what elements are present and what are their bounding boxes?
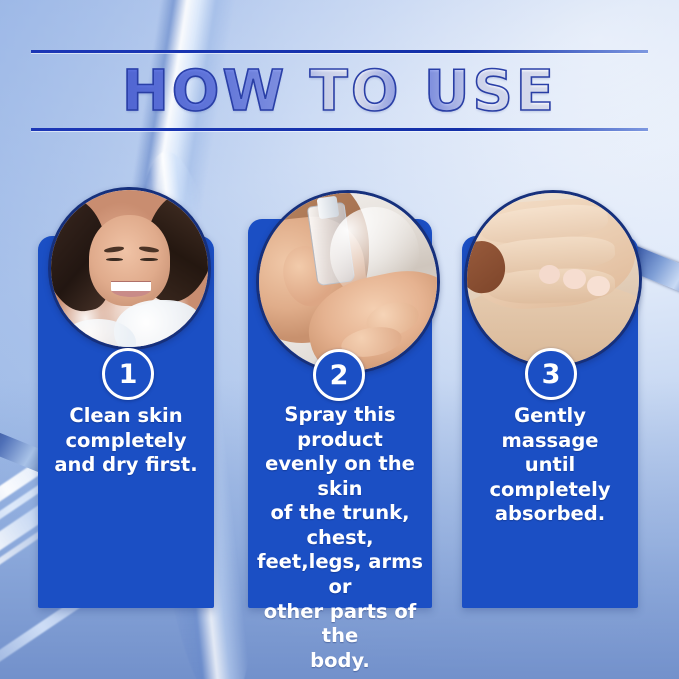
step-3-photo: [464, 190, 642, 368]
hand-massaging-skin-image: [467, 193, 639, 365]
step-caption-1: Clean skin completely and dry first.: [44, 404, 208, 478]
eye-right: [140, 258, 157, 262]
step-number-badge-2: 2: [313, 349, 365, 401]
header-rule-top: [31, 50, 648, 53]
spray-nozzle-shape: [316, 195, 338, 219]
header-rule-bottom: [31, 128, 648, 131]
how-to-use-infographic: HOW TO USE 1 Clean skin completely and d…: [0, 0, 679, 679]
fingernail-shape-3: [587, 276, 609, 297]
fingernail-shape-2: [563, 269, 585, 290]
fingernail-shape-1: [539, 265, 560, 284]
page-title: HOW TO USE: [0, 56, 679, 126]
page-title-text: HOW TO USE: [122, 59, 557, 124]
step-caption-3: Gently massage until completely absorbed…: [466, 404, 634, 527]
smile-shape: [111, 281, 152, 297]
step-caption-2: Spray this product evenly on the skin of…: [250, 403, 430, 673]
step-2-photo: [256, 190, 440, 374]
step-number-badge-3: 3: [525, 348, 577, 400]
spraying-product-image: [259, 193, 437, 371]
woman-showering-image: [51, 190, 208, 347]
step-number-badge-1: 1: [102, 348, 154, 400]
step-1-photo: [48, 187, 211, 350]
